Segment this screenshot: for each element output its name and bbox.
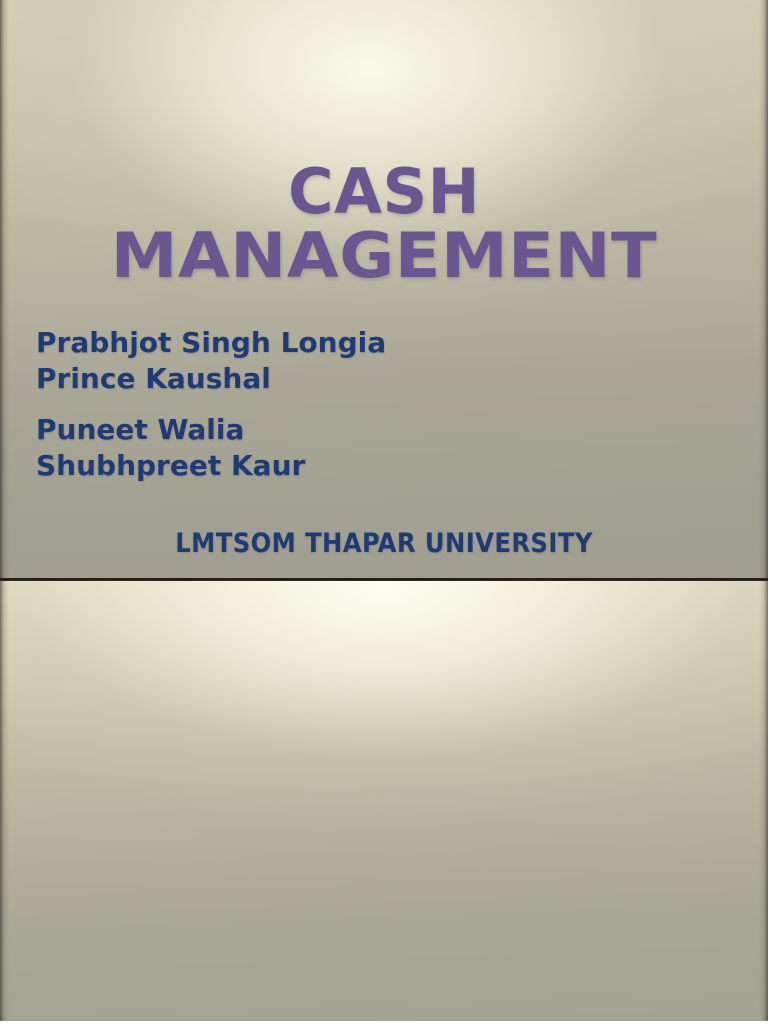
author-list: Prabhjot Singh Longia Prince Kaushal Pun… bbox=[36, 325, 386, 485]
content-slide: WHAT IS CASH? •In narrow sense: currency… bbox=[0, 578, 768, 1021]
slide-deck: CASH MANAGEMENT Prabhjot Singh Longia Pr… bbox=[0, 0, 768, 1024]
author-name: Puneet Walia bbox=[36, 412, 386, 448]
title-slide: CASH MANAGEMENT Prabhjot Singh Longia Pr… bbox=[0, 0, 768, 578]
title-line-cash: CASH bbox=[0, 160, 768, 224]
affiliation-line: LMTSOM THAPAR UNIVERSITY bbox=[0, 528, 768, 559]
slide-divider bbox=[0, 578, 768, 581]
author-name: Prabhjot Singh Longia bbox=[36, 325, 386, 361]
author-name: Prince Kaushal bbox=[36, 361, 386, 397]
presentation-title: CASH MANAGEMENT bbox=[0, 160, 768, 288]
title-line-management: MANAGEMENT bbox=[0, 224, 768, 288]
author-name: Shubhpreet Kaur bbox=[36, 448, 386, 484]
